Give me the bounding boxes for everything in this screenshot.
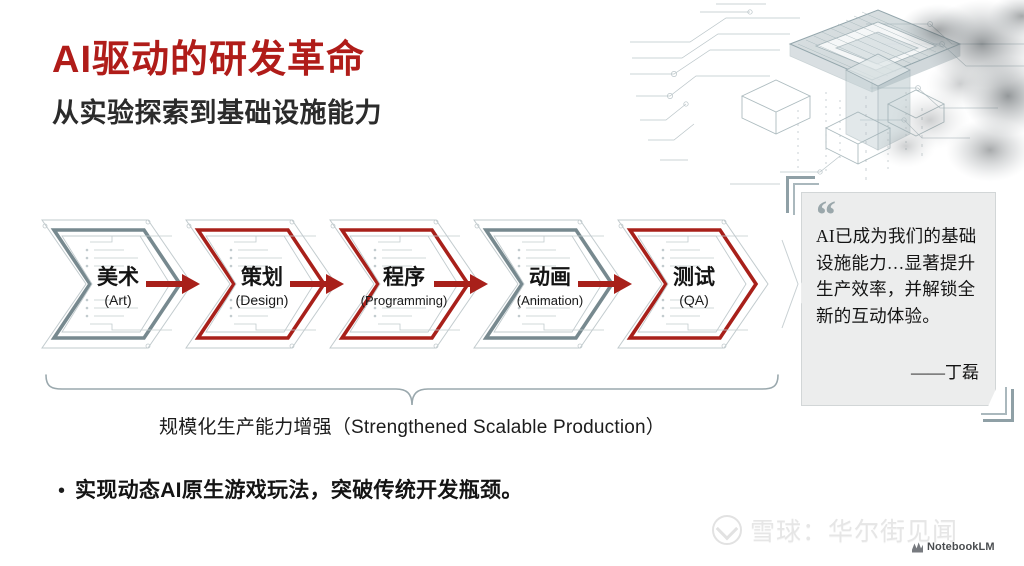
flow-step-5-en: (QA) (679, 292, 709, 308)
scope-brace-caption: 规模化生产能力增强（Strengthened Scalable Producti… (40, 412, 784, 439)
quote-card: “ AI已成为我们的基础设施能力…显著提升生产效率，并解锁全新的互动体验。 ——… (801, 192, 996, 406)
flow-step-4-cn: 动画 (529, 266, 571, 289)
key-point-bullet: • 实现动态AI原生游戏玩法，突破传统开发瓶颈。 (58, 474, 523, 504)
flow-step-1-cn: 美术 (97, 265, 139, 289)
flow-step-4-en: (Animation) (517, 293, 583, 308)
flow-step-5: 测试 (QA) (618, 220, 768, 348)
quote-callout: “ AI已成为我们的基础设施能力…显著提升生产效率，并解锁全新的互动体验。 ——… (786, 176, 1018, 424)
flow-step-5-cn: 测试 (673, 266, 715, 289)
page-subtitle: 从实验探索到基础设施能力 (52, 98, 612, 129)
slide-header: AI驱动的研发革命 从实验探索到基础设施能力 (52, 40, 612, 129)
process-flow-diagram: 美术 (Art) 策划 (Design) (40, 212, 800, 377)
quote-author: ——丁磊 (911, 358, 979, 383)
quote-pointer-icon (793, 281, 803, 305)
bullet-text: 实现动态AI原生游戏玩法，突破传统开发瓶颈。 (75, 474, 523, 504)
flow-step-3-en: (Programming) (361, 293, 448, 308)
decorative-tech-artwork (630, 0, 1024, 200)
slide-root: AI驱动的研发革命 从实验探索到基础设施能力 (0, 0, 1024, 566)
flow-step-2-cn: 策划 (241, 265, 283, 289)
notebooklm-branding: NotebookLM (912, 541, 995, 553)
flow-step-1-en: (Art) (104, 292, 131, 308)
scope-brace (44, 373, 780, 407)
quote-text: AI已成为我们的基础设施能力…显著提升生产效率，并解锁全新的互动体验。 (816, 223, 984, 329)
bullet-marker-icon: • (58, 481, 65, 501)
notebooklm-label: NotebookLM (927, 541, 995, 553)
page-title: AI驱动的研发革命 (52, 40, 612, 82)
notebooklm-logo-icon (912, 542, 923, 553)
flow-step-2-en: (Design) (236, 292, 289, 308)
flow-step-3-cn: 程序 (383, 265, 425, 289)
xueqiu-logo-icon (712, 515, 742, 545)
